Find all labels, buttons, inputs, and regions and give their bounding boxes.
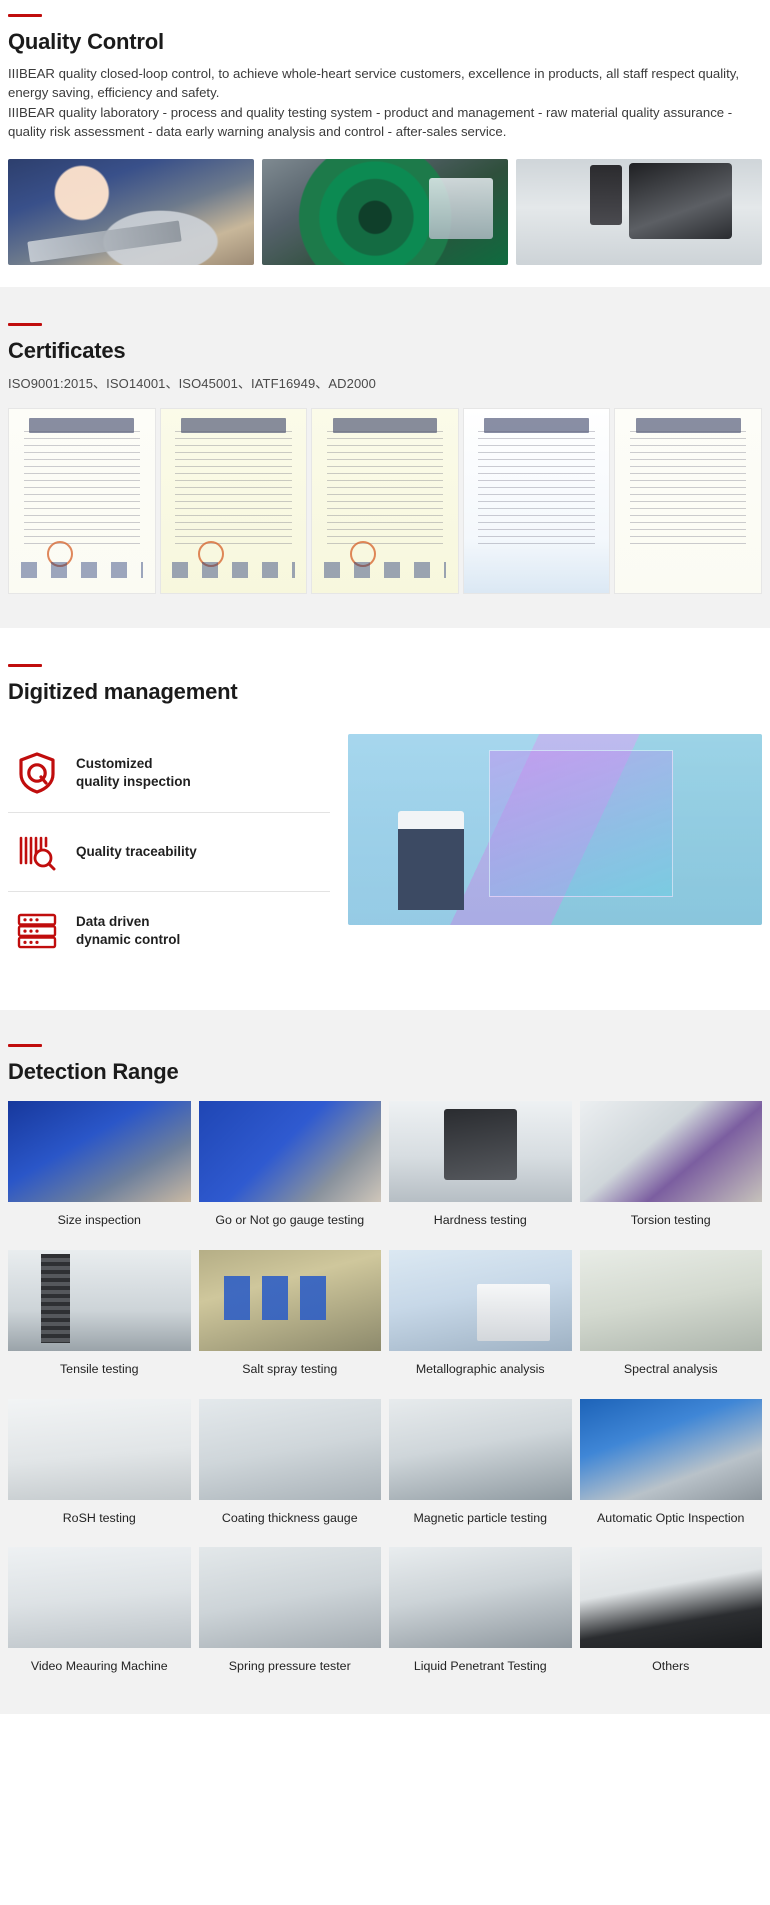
digitized-feature-item: Customized quality inspection bbox=[8, 734, 330, 812]
detection-range-caption: Metallographic analysis bbox=[389, 1351, 572, 1391]
detection-range-photo bbox=[199, 1547, 382, 1648]
feature-label-line2: dynamic control bbox=[76, 932, 180, 947]
detection-range-item[interactable]: Video Meauring Machine bbox=[8, 1547, 191, 1688]
quality-control-photo-row bbox=[8, 159, 762, 265]
detection-range-photo bbox=[8, 1547, 191, 1648]
detection-range-photo bbox=[580, 1101, 763, 1202]
certificates-gallery bbox=[8, 408, 762, 594]
detection-range-item[interactable]: Salt spray testing bbox=[199, 1250, 382, 1391]
section-certificates: Certificates ISO9001:2015、ISO14001、ISO45… bbox=[0, 287, 770, 628]
detection-range-item[interactable]: Liquid Penetrant Testing bbox=[389, 1547, 572, 1688]
detection-range-item[interactable]: Magnetic particle testing bbox=[389, 1399, 572, 1540]
detection-range-caption: Torsion testing bbox=[580, 1202, 763, 1242]
digitized-feature-item: Quality traceability bbox=[8, 812, 330, 891]
quality-page: Quality Control IIIBEAR quality closed-l… bbox=[0, 0, 770, 1714]
detection-range-photo bbox=[389, 1101, 572, 1202]
detection-range-caption: Liquid Penetrant Testing bbox=[389, 1648, 572, 1688]
detection-range-item[interactable]: Tensile testing bbox=[8, 1250, 191, 1391]
detection-range-photo bbox=[8, 1250, 191, 1351]
detection-range-item[interactable]: RoSH testing bbox=[8, 1399, 191, 1540]
detection-range-item[interactable]: Torsion testing bbox=[580, 1101, 763, 1242]
digitized-body: Customized quality inspection bbox=[8, 734, 762, 970]
digitized-title: Digitized management bbox=[8, 679, 762, 704]
detection-range-caption: Spectral analysis bbox=[580, 1351, 763, 1391]
detection-range-item[interactable]: Automatic Optic Inspection bbox=[580, 1399, 763, 1540]
quality-control-photo-2 bbox=[262, 159, 508, 265]
page-title: Quality Control bbox=[8, 29, 762, 54]
digitized-feature-label: Quality traceability bbox=[76, 843, 197, 862]
detection-range-photo bbox=[389, 1250, 572, 1351]
barcode-search-icon bbox=[16, 829, 58, 875]
detection-range-caption: Others bbox=[580, 1648, 763, 1688]
quality-control-paragraph-2: IIIBEAR quality laboratory - process and… bbox=[8, 103, 762, 141]
certificates-subtitle: ISO9001:2015、ISO14001、ISO45001、IATF16949… bbox=[8, 373, 762, 392]
detection-range-photo bbox=[8, 1101, 191, 1202]
detection-range-caption: Go or Not go gauge testing bbox=[199, 1202, 382, 1242]
detection-range-photo bbox=[580, 1399, 763, 1500]
detection-range-photo bbox=[199, 1399, 382, 1500]
detection-range-item[interactable]: Spring pressure tester bbox=[199, 1547, 382, 1688]
quality-control-paragraph-1: IIIBEAR quality closed-loop control, to … bbox=[8, 64, 762, 102]
certificate-thumb[interactable] bbox=[160, 408, 308, 594]
digitized-feature-label: Data driven dynamic control bbox=[76, 913, 180, 950]
detection-range-caption: Coating thickness gauge bbox=[199, 1500, 382, 1540]
detection-range-photo bbox=[580, 1250, 763, 1351]
digitized-management-photo bbox=[348, 734, 762, 925]
quality-control-photo-1 bbox=[8, 159, 254, 265]
shield-q-icon bbox=[16, 750, 58, 796]
detection-range-photo bbox=[199, 1250, 382, 1351]
accent-rule bbox=[8, 14, 42, 17]
detection-range-caption: Automatic Optic Inspection bbox=[580, 1500, 763, 1540]
accent-rule bbox=[8, 1044, 42, 1047]
detection-range-caption: Salt spray testing bbox=[199, 1351, 382, 1391]
certificate-thumb[interactable] bbox=[614, 408, 762, 594]
certificate-thumb[interactable] bbox=[311, 408, 459, 594]
detection-range-caption: Spring pressure tester bbox=[199, 1648, 382, 1688]
detection-range-photo bbox=[389, 1399, 572, 1500]
server-rack-icon bbox=[16, 908, 58, 954]
accent-rule bbox=[8, 664, 42, 667]
detection-range-title: Detection Range bbox=[8, 1059, 762, 1084]
detection-range-caption: Hardness testing bbox=[389, 1202, 572, 1242]
detection-range-item[interactable]: Spectral analysis bbox=[580, 1250, 763, 1391]
digitized-feature-list: Customized quality inspection bbox=[8, 734, 330, 970]
detection-range-photo bbox=[580, 1547, 763, 1648]
detection-range-item[interactable]: Coating thickness gauge bbox=[199, 1399, 382, 1540]
feature-label-line1: Data driven bbox=[76, 914, 150, 929]
section-digitized-management: Digitized management Customized quality … bbox=[0, 628, 770, 1010]
certificate-thumb[interactable] bbox=[8, 408, 156, 594]
detection-range-photo bbox=[389, 1547, 572, 1648]
detection-range-caption: Magnetic particle testing bbox=[389, 1500, 572, 1540]
detection-range-caption: Video Meauring Machine bbox=[8, 1648, 191, 1688]
digitized-feature-label: Customized quality inspection bbox=[76, 755, 191, 792]
detection-range-caption: RoSH testing bbox=[8, 1500, 191, 1540]
certificate-thumb[interactable] bbox=[463, 408, 611, 594]
detection-range-item[interactable]: Others bbox=[580, 1547, 763, 1688]
certificates-title: Certificates bbox=[8, 338, 762, 363]
section-detection-range: Detection Range Size inspectionGo or Not… bbox=[0, 1010, 770, 1714]
quality-control-photo-3 bbox=[516, 159, 762, 265]
digitized-feature-item: Data driven dynamic control bbox=[8, 891, 330, 970]
section-quality-control: Quality Control IIIBEAR quality closed-l… bbox=[0, 0, 770, 287]
detection-range-photo bbox=[8, 1399, 191, 1500]
detection-range-item[interactable]: Metallographic analysis bbox=[389, 1250, 572, 1391]
detection-range-caption: Size inspection bbox=[8, 1202, 191, 1242]
feature-label-line1: Customized bbox=[76, 756, 153, 771]
detection-range-item[interactable]: Hardness testing bbox=[389, 1101, 572, 1242]
detection-range-item[interactable]: Size inspection bbox=[8, 1101, 191, 1242]
accent-rule bbox=[8, 323, 42, 326]
feature-label-line2: quality inspection bbox=[76, 774, 191, 789]
detection-range-photo bbox=[199, 1101, 382, 1202]
detection-range-item[interactable]: Go or Not go gauge testing bbox=[199, 1101, 382, 1242]
detection-range-grid: Size inspectionGo or Not go gauge testin… bbox=[8, 1101, 762, 1689]
detection-range-caption: Tensile testing bbox=[8, 1351, 191, 1391]
